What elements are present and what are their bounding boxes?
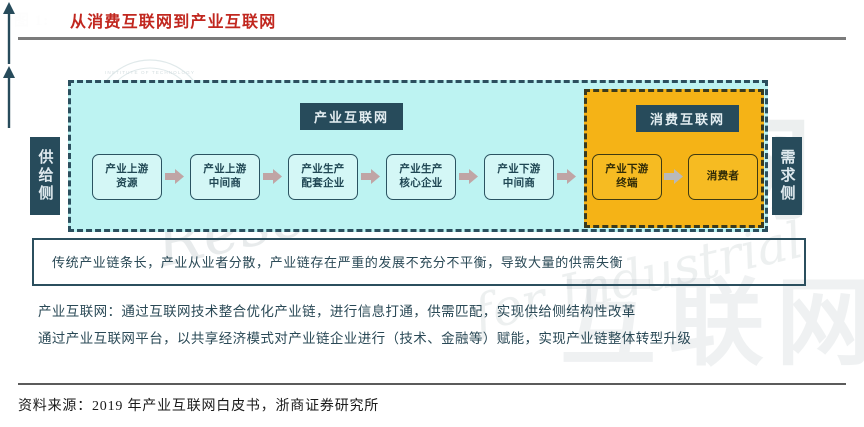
node-line-1: 消费者 xyxy=(707,170,739,184)
node-line-1: 产业下游 xyxy=(605,164,648,175)
figure-number-label: 图 1: xyxy=(14,9,49,30)
node-line-2: 中间商 xyxy=(209,178,241,189)
chain-node: 产业上游资源 xyxy=(92,154,162,200)
node-line-2: 配套企业 xyxy=(301,178,344,189)
supply-side-column: 供给侧 xyxy=(30,137,60,215)
section-label-industrial-internet: 产业互联网 xyxy=(300,103,403,130)
node-line-1: 产业生产 xyxy=(399,164,442,175)
body-line-1: 产业互联网：通过互联网技术整合优化产业链，进行信息打通，供需匹配，实现供给侧结构… xyxy=(38,300,636,320)
chain-node: 产业下游中间商 xyxy=(484,154,554,200)
demand-feedback-arrow-icon xyxy=(0,64,18,128)
chain-node: 产业生产配套企业 xyxy=(288,154,358,200)
section-label-consumer-internet: 消费互联网 xyxy=(636,105,739,132)
node-line-1: 产业下游 xyxy=(497,164,540,175)
note-text: 传统产业链条长，产业从业者分散，产业链存在严重的发展不充分不平衡，导致大量的供需… xyxy=(52,252,623,271)
chain-node: 产业下游终端 xyxy=(592,154,662,200)
svg-text:INSTITUTE OF TECHNOLOGY: INSTITUTE OF TECHNOLOGY xyxy=(105,70,195,75)
node-line-2: 终端 xyxy=(616,178,638,189)
figure-page: 图 1: 从消费互联网到产业互联网 INSTITUTE OF TECHNOLOG… xyxy=(0,0,864,427)
node-line-1: 产业生产 xyxy=(301,164,344,175)
source-note: 资料来源：2019 年产业互联网白皮书，浙商证券研究所 xyxy=(18,395,379,415)
footer-divider xyxy=(18,383,846,385)
node-line-1: 产业上游 xyxy=(105,164,148,175)
title-divider xyxy=(18,37,846,40)
node-line-2: 资源 xyxy=(116,178,138,189)
chain-node: 消费者 xyxy=(688,154,758,200)
page-title: 从消费互联网到产业互联网 xyxy=(70,8,276,32)
node-line-2: 中间商 xyxy=(503,178,535,189)
node-line-2: 核心企业 xyxy=(399,178,442,189)
demand-side-column: 需求侧 xyxy=(772,137,802,215)
chain-node: 产业上游中间商 xyxy=(190,154,260,200)
node-line-1: 产业上游 xyxy=(203,164,246,175)
body-line-2: 通过产业互联网平台，以共享经济模式对产业链企业进行（技术、金融等）赋能，实现产业… xyxy=(38,327,691,347)
chain-node: 产业生产核心企业 xyxy=(386,154,456,200)
